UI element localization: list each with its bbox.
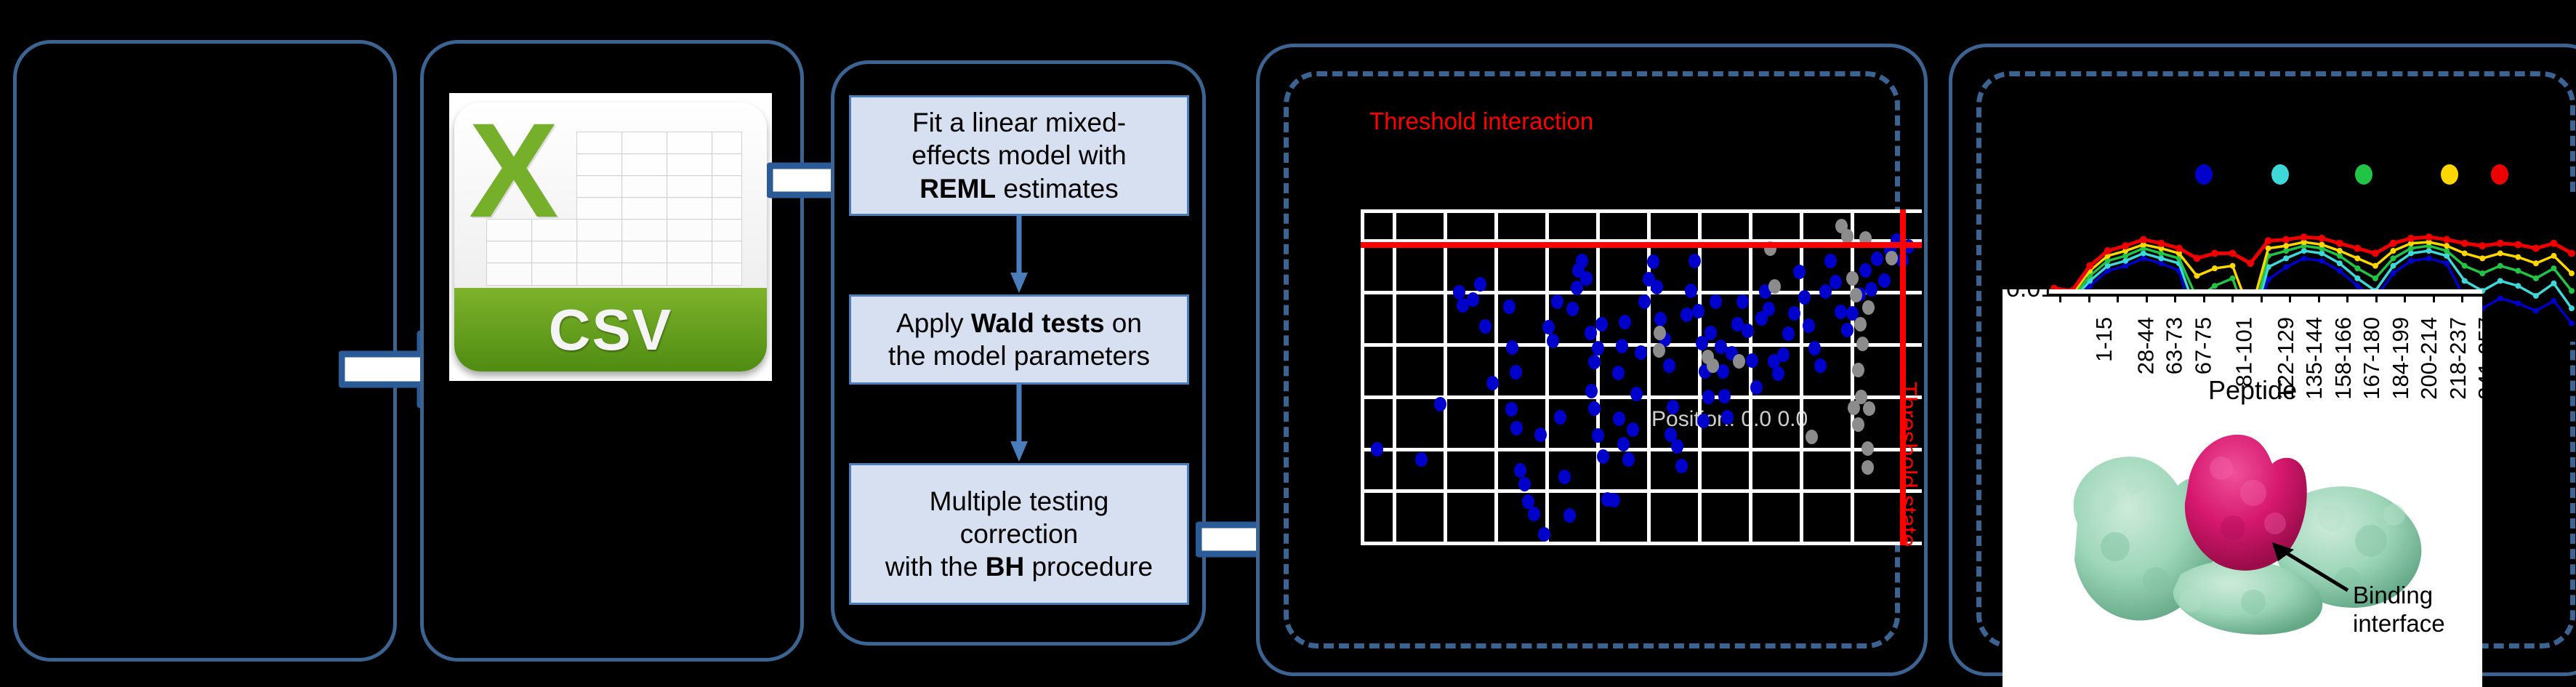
series-point (2265, 237, 2272, 244)
series-point (2157, 240, 2165, 247)
x-tick-mark (2088, 294, 2090, 302)
series-point (2569, 270, 2575, 276)
series-point (2444, 243, 2450, 249)
binding-interface-label: Binding interface (2353, 582, 2445, 638)
series-point (2141, 255, 2146, 261)
series-point (2229, 249, 2237, 257)
legend-dot-series-4 (2441, 164, 2458, 185)
series-point (2354, 255, 2360, 261)
excel-x-glyph: X (469, 104, 558, 238)
series-point (2426, 255, 2432, 261)
legend-dot-series-1 (2195, 164, 2213, 185)
series-point (2479, 270, 2485, 276)
step-bh-line1: Multiple testing (930, 486, 1109, 516)
series-point (2408, 246, 2414, 252)
y-axis-tick-label: 0.01 (2006, 275, 2054, 303)
series-point (2533, 308, 2539, 314)
step-model-fit-line2: effects model with (911, 140, 1126, 170)
series-point (2514, 241, 2521, 248)
step-wald-line2: the model parameters (888, 341, 1150, 371)
csv-format-label: CSV (549, 297, 673, 363)
threshold-state-label: Threshold state (1894, 382, 1922, 547)
step-bh-line3-post: procedure (1024, 552, 1153, 582)
series-point (2372, 276, 2378, 281)
series-point (2337, 248, 2343, 254)
series-point (2212, 265, 2218, 271)
series-point (2230, 276, 2236, 281)
series-point (2515, 300, 2521, 306)
series-point (2319, 250, 2325, 256)
x-tick-label: 158-166 (2330, 317, 2356, 400)
x-axis-line (2049, 294, 2485, 297)
legend-dot-series-3 (2355, 164, 2372, 185)
series-point (2426, 233, 2433, 241)
series-point (2283, 243, 2289, 249)
series-point (2479, 242, 2486, 249)
step-wald-line1-post: on (1105, 308, 1142, 338)
x-tick-label: 135-144 (2301, 317, 2327, 400)
binding-interface-line2: interface (2353, 610, 2445, 638)
series-point (2319, 241, 2325, 247)
step-bh-correction: Multiple testing correction with the BH … (849, 463, 1189, 605)
series-point (2550, 240, 2557, 247)
series-point (2426, 248, 2432, 254)
series-point (2462, 263, 2468, 269)
series-point (2479, 255, 2485, 261)
x-tick-mark (2461, 294, 2463, 302)
series-point (2212, 283, 2218, 289)
series-point (2569, 321, 2575, 326)
series-point (2462, 278, 2468, 284)
series-point (2569, 288, 2575, 294)
x-tick-label: 200-214 (2416, 317, 2442, 400)
series-point (2354, 283, 2360, 289)
x-tick-mark (2174, 294, 2176, 302)
series-point (2444, 260, 2450, 266)
x-tick-mark (2433, 294, 2435, 302)
step-model-fit: Fit a linear mixed- effects model with R… (849, 95, 1189, 216)
x-tick-mark (2289, 294, 2291, 302)
x-tick-mark (2146, 294, 2148, 302)
series-point (2497, 240, 2504, 247)
series-point (2158, 255, 2164, 261)
step-bh-keyword: BH (986, 552, 1024, 582)
threshold-interaction-label: Threshold interaction (1369, 108, 1593, 135)
series-point (2390, 270, 2396, 276)
step-wald-line1-pre: Apply (896, 308, 971, 338)
series-point (2372, 249, 2379, 257)
workflow-figure: X CSV Fit a linear mixed- effects model … (0, 0, 2576, 687)
x-tick-label: 277-284 (2531, 317, 2557, 400)
series-point (2407, 235, 2415, 242)
series-point (2515, 268, 2521, 274)
series-point (2389, 240, 2396, 247)
series-point (2175, 245, 2183, 252)
series-point (2337, 253, 2343, 259)
series-point (2194, 273, 2199, 278)
series-point (2551, 253, 2556, 259)
series-point (2337, 260, 2343, 266)
series-point (2337, 268, 2343, 274)
series-point (2211, 249, 2218, 257)
series-point (2283, 255, 2289, 261)
series-point (2408, 250, 2414, 256)
x-tick-label: 184-199 (2387, 317, 2413, 400)
series-point (2462, 250, 2468, 256)
series-point (2390, 255, 2396, 261)
series-point (2372, 263, 2378, 269)
series-point (2497, 263, 2503, 269)
series-point (2354, 245, 2361, 252)
series-point (2282, 236, 2290, 244)
x-tick-mark (2203, 294, 2205, 302)
series-point (2140, 236, 2147, 244)
series-point (2158, 260, 2164, 266)
series-point (2283, 248, 2289, 254)
series-point (2551, 265, 2556, 271)
legend-dot-series-2 (2271, 164, 2289, 185)
series-point (2086, 262, 2093, 270)
series-point (2443, 236, 2450, 244)
series-point (2444, 248, 2450, 254)
connector-wald-to-bh (1007, 385, 1031, 463)
series-point (2568, 249, 2575, 257)
scatter-plot: Position: 0.0 0.0 (1361, 209, 1922, 545)
connector-model-to-wald (1007, 216, 1031, 294)
series-point (2408, 258, 2414, 264)
series-point (2104, 247, 2112, 254)
x-tick-mark (2117, 294, 2119, 302)
series-point (2318, 235, 2325, 242)
series-point (2230, 263, 2236, 269)
x-tick-label: 63-73 (2161, 317, 2187, 374)
csv-file-icon: X CSV (449, 93, 772, 381)
series-point (2461, 240, 2468, 247)
series-point (2533, 293, 2539, 299)
series-point (2283, 264, 2289, 270)
series-point (2497, 295, 2503, 301)
series-point (2533, 260, 2539, 266)
x-axis-title: Peptide (2208, 375, 2297, 406)
series-point (2390, 248, 2396, 254)
x-tick-mark (2346, 294, 2348, 302)
x-tick-label: 28-44 (2133, 317, 2159, 374)
series-point (2354, 265, 2360, 271)
x-tick-mark (2318, 294, 2320, 302)
series-point (2122, 258, 2128, 264)
series-point (2336, 240, 2343, 247)
series-point (2122, 263, 2128, 269)
step-model-fit-keyword: REML (919, 174, 996, 204)
series-point (2497, 278, 2503, 284)
x-tick-mark (2231, 294, 2234, 302)
step-model-fit-line1: Fit a linear mixed- (912, 108, 1126, 137)
series-point (2497, 250, 2503, 256)
series-point (2193, 254, 2200, 262)
series-point (2354, 276, 2360, 281)
series-point (2515, 254, 2521, 260)
step-bh-line3-pre: with the (885, 552, 986, 582)
series-point (2569, 305, 2575, 311)
series-point (2122, 253, 2128, 259)
binding-interface-line1: Binding (2353, 582, 2445, 610)
series-point (2158, 250, 2164, 256)
series-point (2515, 283, 2521, 289)
series-point (2141, 250, 2146, 256)
x-tick-mark (2059, 294, 2061, 302)
series-point (2532, 245, 2540, 252)
step-model-fit-line3-post: estimates (996, 174, 1119, 204)
x-tick-mark (2261, 294, 2263, 302)
series-point (2390, 263, 2396, 269)
series-point (2247, 260, 2254, 267)
x-tick-mark (2404, 294, 2406, 302)
series-point (2301, 248, 2307, 254)
legend-dot-series-5 (2491, 164, 2508, 185)
series-point (2551, 298, 2556, 304)
series-point (2551, 281, 2556, 286)
threshold-interaction-line (1361, 242, 1922, 248)
series-point (2122, 242, 2129, 249)
series-point (2301, 255, 2307, 261)
series-point (2319, 258, 2325, 264)
step-wald-keyword: Wald tests (971, 308, 1105, 338)
x-tick-label: 67-75 (2190, 317, 2216, 374)
x-tick-label: 167-180 (2359, 317, 2385, 400)
series-point (2533, 276, 2539, 281)
x-tick-label: 1-15 (2091, 317, 2117, 362)
x-tick-label: 258-266 (2502, 317, 2528, 400)
series-point (2301, 233, 2308, 241)
x-tick-label: 241-257 (2474, 317, 2500, 400)
x-tick-label: 218-237 (2444, 317, 2471, 400)
step-bh-line2: correction (960, 519, 1078, 549)
x-tick-mark (2375, 294, 2378, 302)
step-wald-tests: Apply Wald tests on the model parameters (849, 294, 1189, 385)
